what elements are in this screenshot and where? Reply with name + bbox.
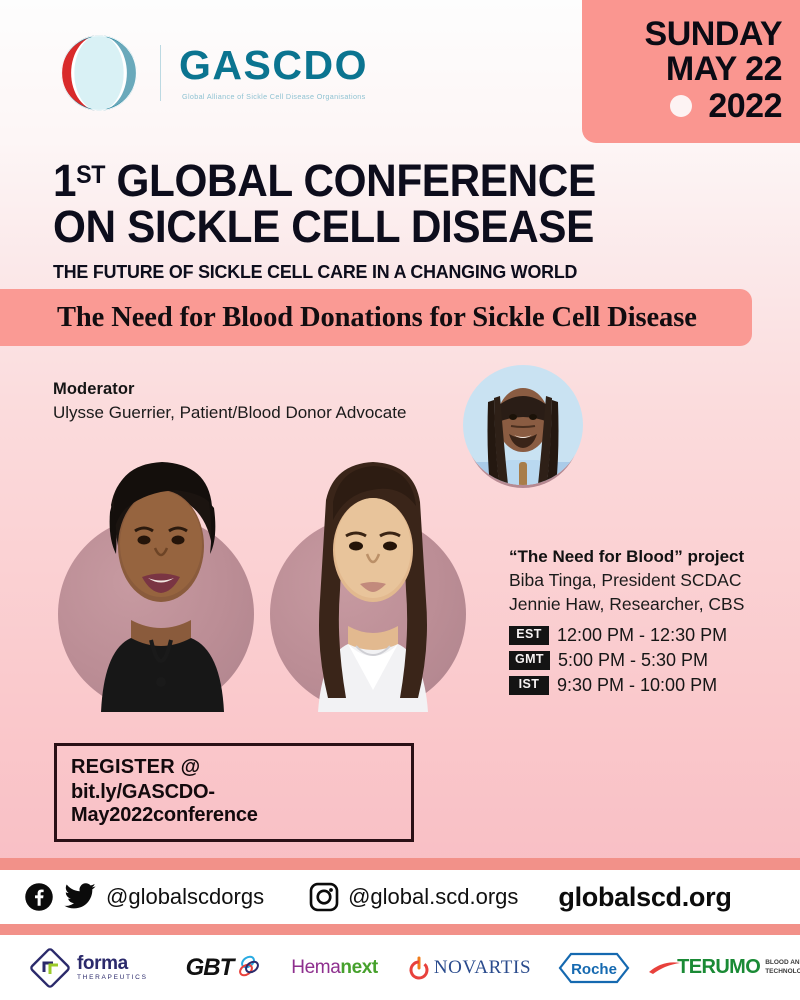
logo-wordmark: GASCDO Global Alliance of Sickle Cell Di…	[179, 45, 368, 100]
avatar-speaker-2	[268, 450, 478, 712]
speaker-name-2: Jennie Haw, Researcher, CBS	[509, 594, 744, 615]
register-label: REGISTER @	[71, 756, 397, 779]
logo-divider	[160, 45, 161, 101]
title-line-2: ON SICKLE CELL DISEASE	[53, 204, 596, 250]
roche-logo-icon: Roche	[557, 951, 631, 985]
title-ordinal: 1	[53, 155, 76, 206]
conference-poster: SUNDAY MAY 22 2022	[0, 0, 800, 1000]
sponsor-forma: forma THERAPEUTICS	[30, 948, 148, 988]
time-value-ist: 9:30 PM - 10:00 PM	[557, 675, 717, 696]
twitter-icon[interactable]	[63, 882, 97, 912]
sponsor-name: TERUMO	[677, 956, 760, 979]
social-group-fb-tw: @globalscdorgs	[24, 882, 264, 912]
social-handle-instagram[interactable]: @global.scd.orgs	[348, 884, 518, 910]
social-handle-fb-tw[interactable]: @globalscdorgs	[106, 884, 264, 910]
gascdo-globe-icon	[58, 32, 140, 114]
timezone-badge-ist: IST	[509, 676, 549, 695]
title-ordinal-suffix: ST	[76, 162, 105, 189]
footer-bar-bottom	[0, 924, 800, 935]
logo-name: GASCDO	[179, 45, 368, 86]
svg-text:Roche: Roche	[571, 961, 617, 978]
time-row: IST 9:30 PM - 10:00 PM	[509, 675, 744, 696]
social-group-instagram: @global.scd.orgs	[309, 882, 518, 912]
biba-tinga-portrait	[56, 450, 266, 712]
footer-bar-top	[0, 858, 800, 870]
sponsor-strip: forma THERAPEUTICS GBT Hemanext NOVARTIS	[0, 935, 800, 1000]
session-banner-text: The Need for Blood Donations for Sickle …	[57, 302, 697, 334]
website-url[interactable]: globalscd.org	[558, 882, 731, 913]
avatar-moderator	[462, 362, 584, 504]
forma-logo-icon	[30, 948, 70, 988]
time-row: EST 12:00 PM - 12:30 PM	[509, 625, 744, 646]
title-subtitle: THE FUTURE OF SICKLE CELL CARE IN A CHAN…	[53, 261, 610, 283]
sponsor-novartis: NOVARTIS	[408, 954, 531, 982]
title-line-1-rest: GLOBAL CONFERENCE	[105, 155, 596, 206]
date-badge: SUNDAY MAY 22 2022	[582, 0, 800, 143]
sponsor-name-2: next	[340, 957, 377, 979]
dot-decoration-icon	[670, 95, 692, 117]
avatar-speaker-1	[56, 450, 266, 712]
sponsor-terumo: TERUMO BLOOD AND CELLTECHNOLOGIES	[647, 956, 800, 979]
speaker-name-1: Biba Tinga, President SCDAC	[509, 570, 744, 591]
facebook-icon[interactable]	[24, 882, 54, 912]
terumo-swoosh-icon	[647, 958, 681, 978]
moderator-name: Ulysse Guerrier, Patient/Blood Donor Adv…	[53, 403, 406, 423]
register-box[interactable]: REGISTER @ bit.ly/GASCDO-May2022conferen…	[54, 743, 414, 842]
date-day: SUNDAY	[582, 18, 782, 51]
title-line-1: 1ST GLOBAL CONFERENCE	[53, 158, 596, 204]
time-list: EST 12:00 PM - 12:30 PM GMT 5:00 PM - 5:…	[509, 625, 744, 696]
moderator-portrait	[462, 362, 584, 504]
sponsor-sub: BLOOD AND CELLTECHNOLOGIES	[765, 959, 800, 975]
gascdo-logo: GASCDO Global Alliance of Sickle Cell Di…	[58, 32, 368, 114]
moderator-block: Moderator Ulysse Guerrier, Patient/Blood…	[53, 380, 406, 423]
sponsor-name: NOVARTIS	[434, 957, 531, 979]
moderator-label: Moderator	[53, 380, 406, 399]
register-link[interactable]: bit.ly/GASCDO-May2022conference	[71, 781, 397, 827]
sponsor-name: GBT	[186, 954, 234, 982]
gbt-mark-icon	[235, 953, 261, 983]
date-year-row: 2022	[582, 90, 782, 123]
sponsor-gbt: GBT	[186, 953, 262, 983]
social-strip: @globalscdorgs @global.scd.orgs globalsc…	[0, 870, 800, 924]
timezone-badge-est: EST	[509, 626, 549, 645]
novartis-mark-icon	[408, 954, 430, 982]
timezone-badge-gmt: GMT	[509, 651, 550, 670]
speakers-block: “The Need for Blood” project Biba Tinga,…	[509, 547, 744, 700]
time-value-gmt: 5:00 PM - 5:30 PM	[558, 650, 708, 671]
sponsor-sub: THERAPEUTICS	[77, 975, 148, 982]
time-row: GMT 5:00 PM - 5:30 PM	[509, 650, 744, 671]
page-title: 1ST GLOBAL CONFERENCE ON SICKLE CELL DIS…	[53, 158, 630, 283]
sponsor-name: Hema	[291, 957, 340, 979]
date-year: 2022	[708, 90, 782, 123]
project-title: “The Need for Blood” project	[509, 547, 744, 567]
logo-tagline: Global Alliance of Sickle Cell Disease O…	[182, 93, 368, 100]
forma-wordmark: forma THERAPEUTICS	[77, 954, 148, 982]
sponsor-name: forma	[77, 954, 148, 973]
jennie-haw-portrait	[268, 450, 478, 712]
session-banner: The Need for Blood Donations for Sickle …	[0, 289, 752, 346]
sponsor-roche: Roche	[557, 951, 631, 985]
instagram-icon[interactable]	[309, 882, 339, 912]
date-month-day: MAY 22	[582, 53, 782, 86]
sponsor-hemanext: Hemanext	[291, 957, 378, 979]
time-value-est: 12:00 PM - 12:30 PM	[557, 625, 727, 646]
